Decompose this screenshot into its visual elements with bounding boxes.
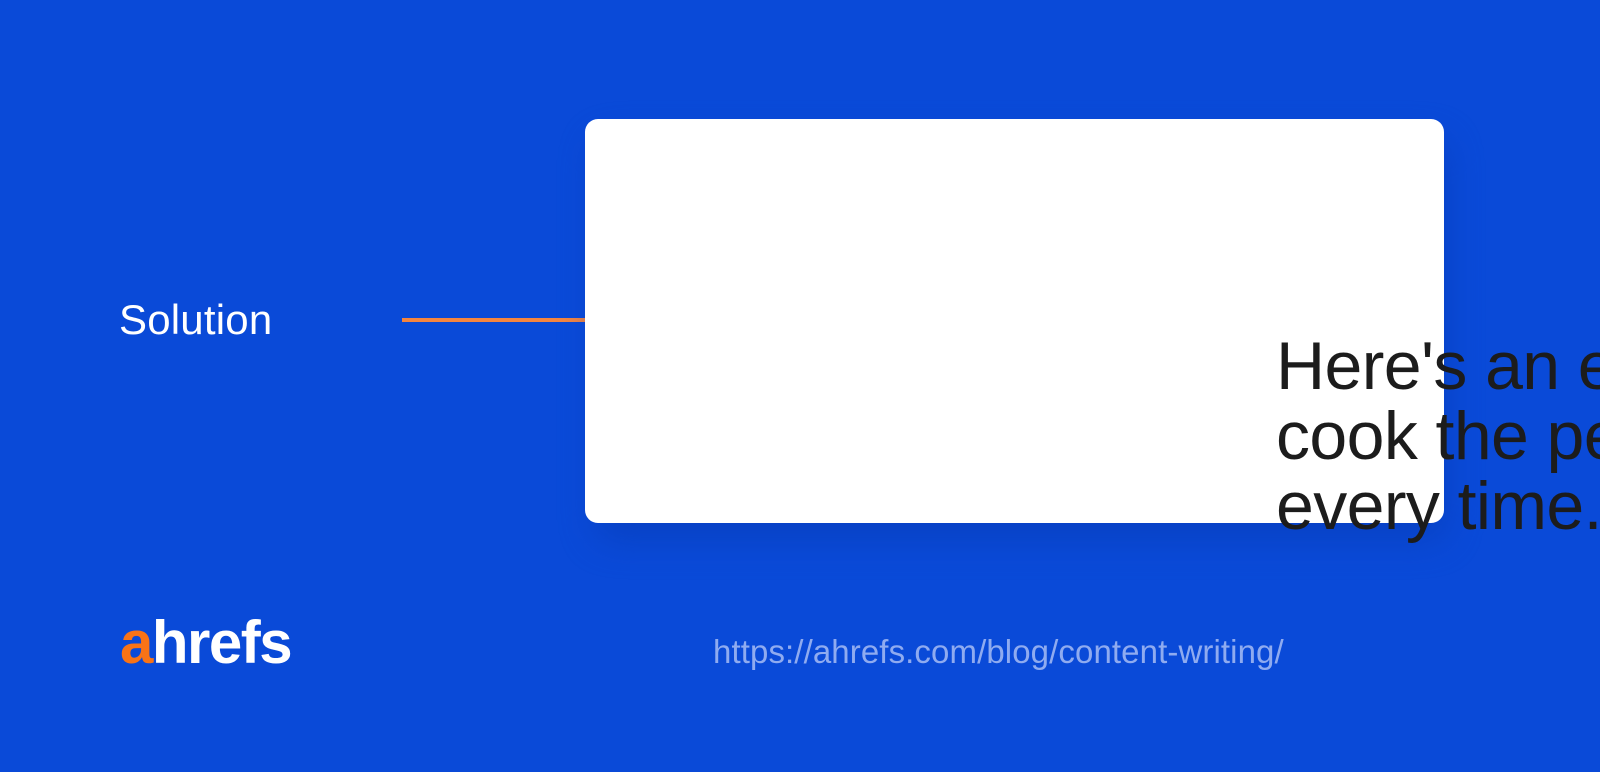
slide-canvas: Solution Here's an easy way to cook the … xyxy=(0,0,1600,772)
example-card-text: Here's an easy way to cook the perfect s… xyxy=(1276,331,1600,541)
diagram-label-solution: Solution xyxy=(119,295,272,345)
example-card: Here's an easy way to cook the perfect s… xyxy=(585,119,1444,523)
source-url[interactable]: https://ahrefs.com/blog/content-writing/ xyxy=(713,632,1284,672)
ahrefs-logo-text: hrefs xyxy=(152,609,291,676)
ahrefs-logo-accent-letter: a xyxy=(120,609,152,676)
ahrefs-logo: ahrefs xyxy=(120,612,291,674)
